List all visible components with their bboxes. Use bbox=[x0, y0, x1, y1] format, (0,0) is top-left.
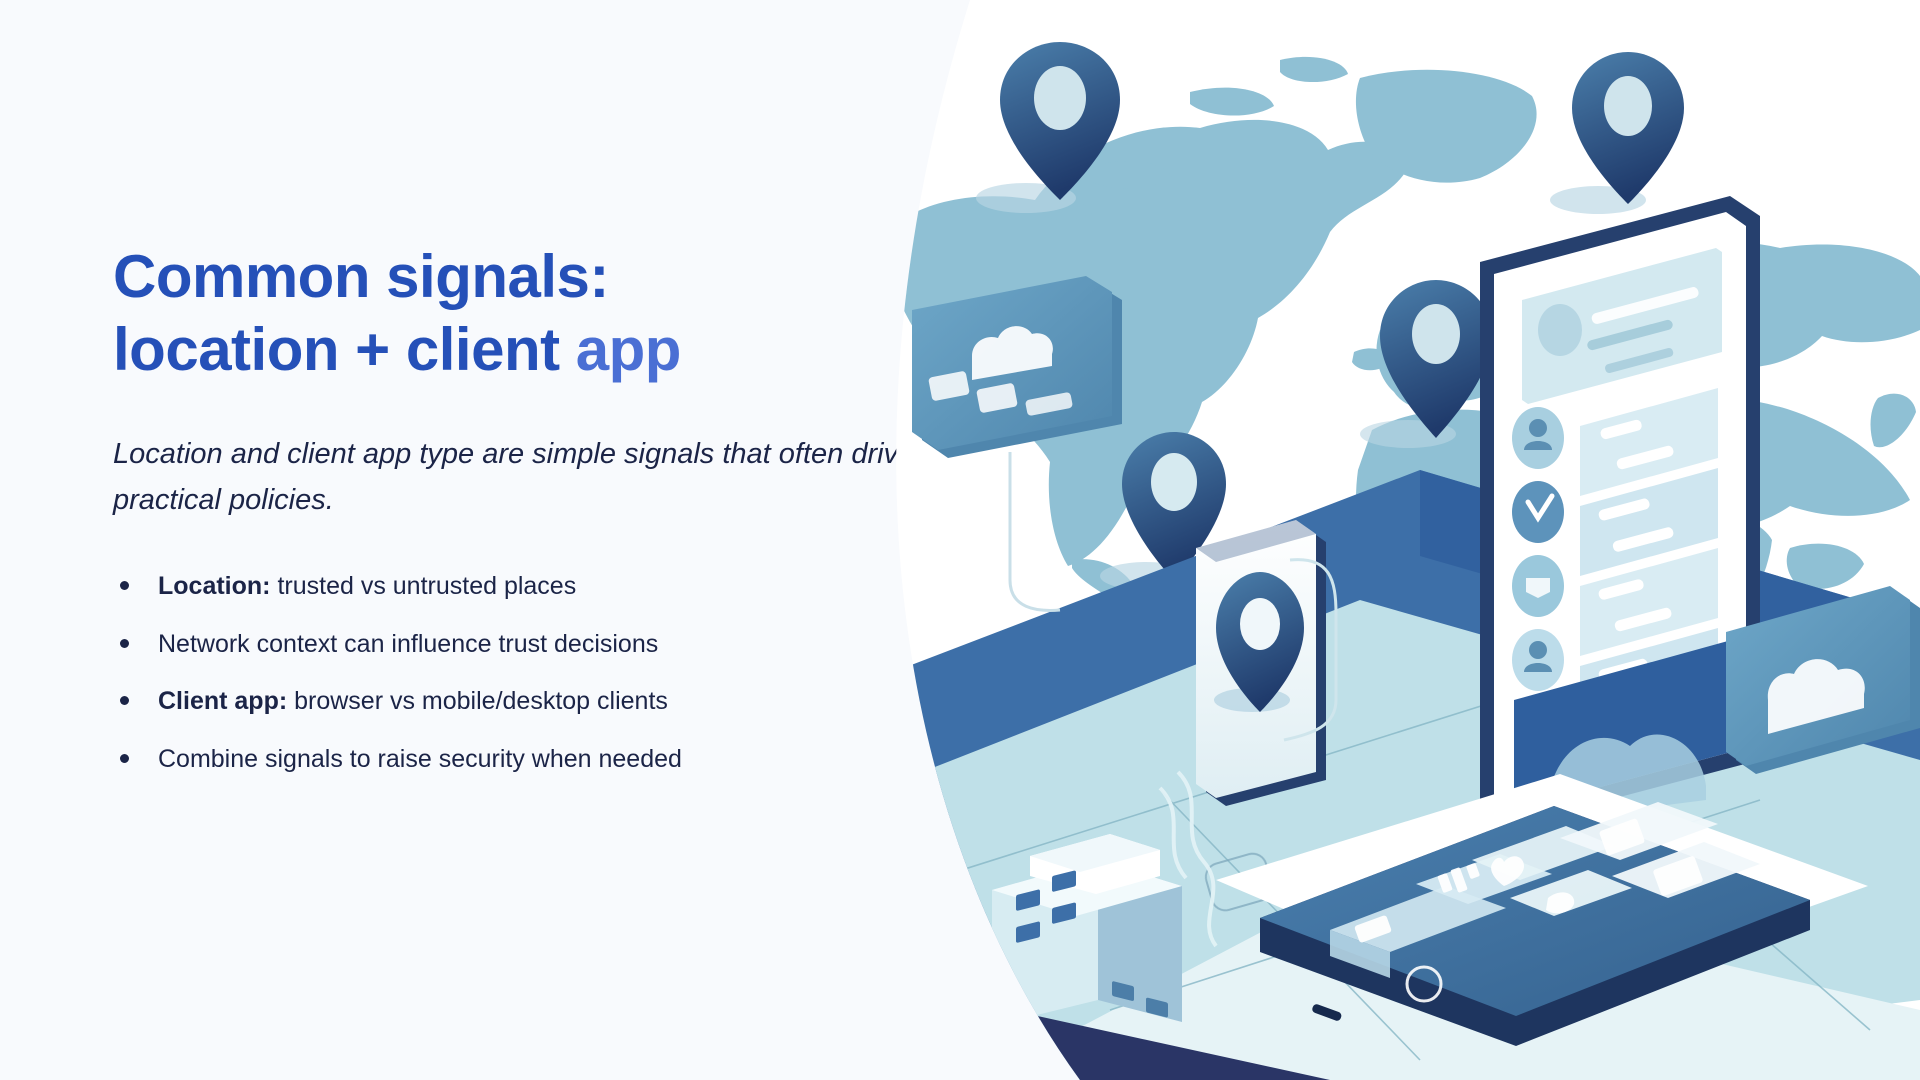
standing-phone-with-pin bbox=[1196, 520, 1336, 806]
list-avatar-1 bbox=[1512, 407, 1564, 469]
page-title-line-2: location + client app bbox=[113, 313, 973, 386]
slide-root: Common signals: location + client app Lo… bbox=[0, 0, 1920, 1080]
page-title: Common signals: location + client app bbox=[113, 240, 973, 386]
text-column: Common signals: location + client app Lo… bbox=[113, 240, 973, 800]
list-item-lead: Client app: bbox=[158, 687, 287, 715]
bullet-dot-icon bbox=[120, 639, 129, 648]
pin-hole bbox=[1604, 76, 1652, 136]
pin-hole bbox=[1034, 66, 1086, 130]
list-item: Client app: browser vs mobile/desktop cl… bbox=[113, 685, 973, 718]
pin-hole bbox=[1151, 453, 1197, 511]
illustration bbox=[860, 0, 1920, 1080]
bullet-dot-icon bbox=[120, 581, 129, 590]
pin-hole bbox=[1240, 598, 1280, 650]
tall-phone-app-list bbox=[1480, 196, 1760, 826]
list-avatar-2 bbox=[1512, 481, 1564, 543]
bullet-dot-icon bbox=[120, 754, 129, 763]
bullet-list: Location: trusted vs untrusted places Ne… bbox=[113, 570, 973, 775]
list-item: Combine signals to raise security when n… bbox=[113, 743, 973, 776]
banner-avatar-icon bbox=[1538, 304, 1582, 356]
list-item-text: browser vs mobile/desktop clients bbox=[287, 687, 668, 715]
illustration-scene bbox=[860, 0, 1920, 1080]
list-item: Network context can influence trust deci… bbox=[113, 628, 973, 661]
page-title-line-1: Common signals: bbox=[113, 243, 609, 310]
bullet-dot-icon bbox=[120, 696, 129, 705]
list-item: Location: trusted vs untrusted places bbox=[113, 570, 973, 603]
pin-hole bbox=[1412, 304, 1460, 364]
list-item-text: Network context can influence trust deci… bbox=[158, 630, 658, 658]
subtitle: Location and client app type are simple … bbox=[113, 432, 933, 524]
page-title-accent-word: app bbox=[576, 316, 681, 383]
list-avatar-4 bbox=[1512, 629, 1564, 691]
list-item-lead: Location: bbox=[158, 572, 271, 600]
page-title-line-2-main: location + client bbox=[113, 316, 576, 383]
list-item-text: trusted vs untrusted places bbox=[271, 572, 577, 600]
list-avatar-4-head-icon bbox=[1529, 641, 1547, 659]
list-item-text: Combine signals to raise security when n… bbox=[158, 745, 682, 773]
list-avatar-1-head-icon bbox=[1529, 419, 1547, 437]
illustration-svg bbox=[860, 0, 1920, 1080]
